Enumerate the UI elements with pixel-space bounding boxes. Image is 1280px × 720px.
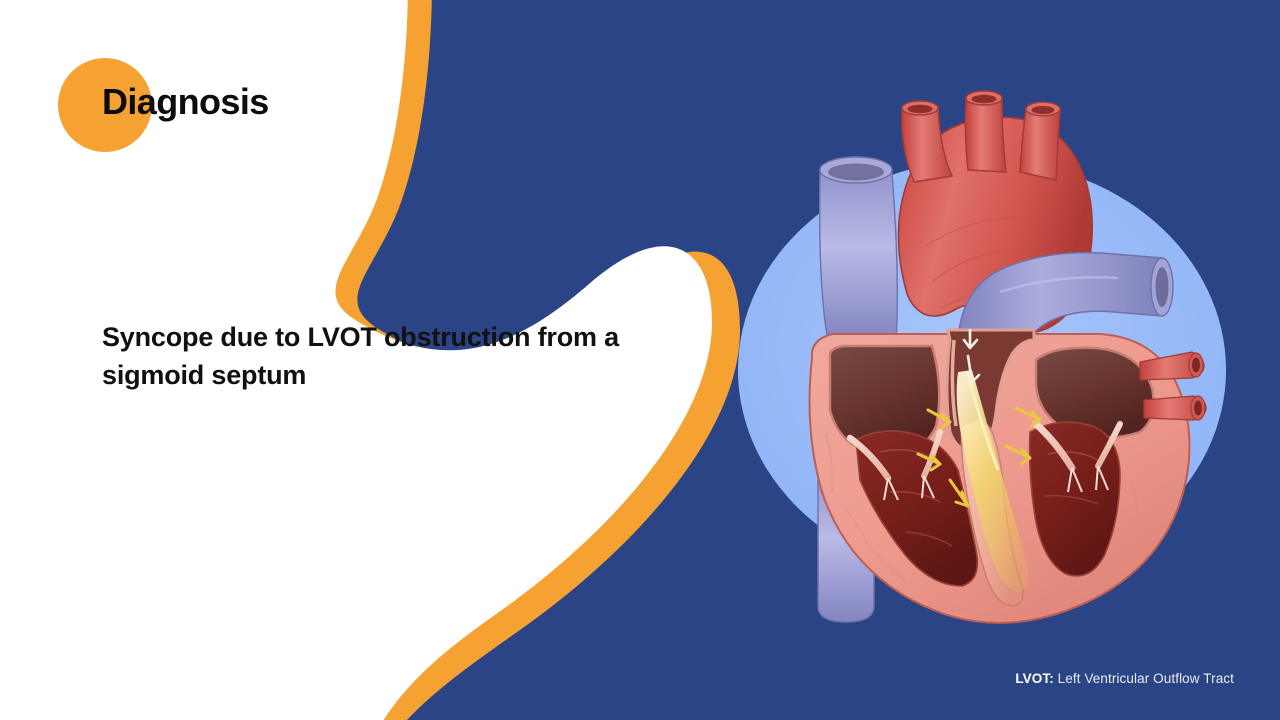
slide-root: Diagnosis Syncope due to LVOT obstructio… (0, 0, 1280, 720)
title-block: Diagnosis (58, 58, 378, 154)
footnote-expansion: Left Ventricular Outflow Tract (1058, 671, 1234, 686)
footnote-abbreviation: LVOT: Left Ventricular Outflow Tract (1015, 671, 1234, 686)
diagnosis-statement: Syncope due to LVOT obstruction from a s… (102, 318, 622, 395)
page-title: Diagnosis (102, 84, 269, 120)
footnote-abbr-label: LVOT: (1015, 671, 1054, 686)
superior-vena-cava (820, 157, 898, 340)
heart-illustration (700, 40, 1280, 640)
